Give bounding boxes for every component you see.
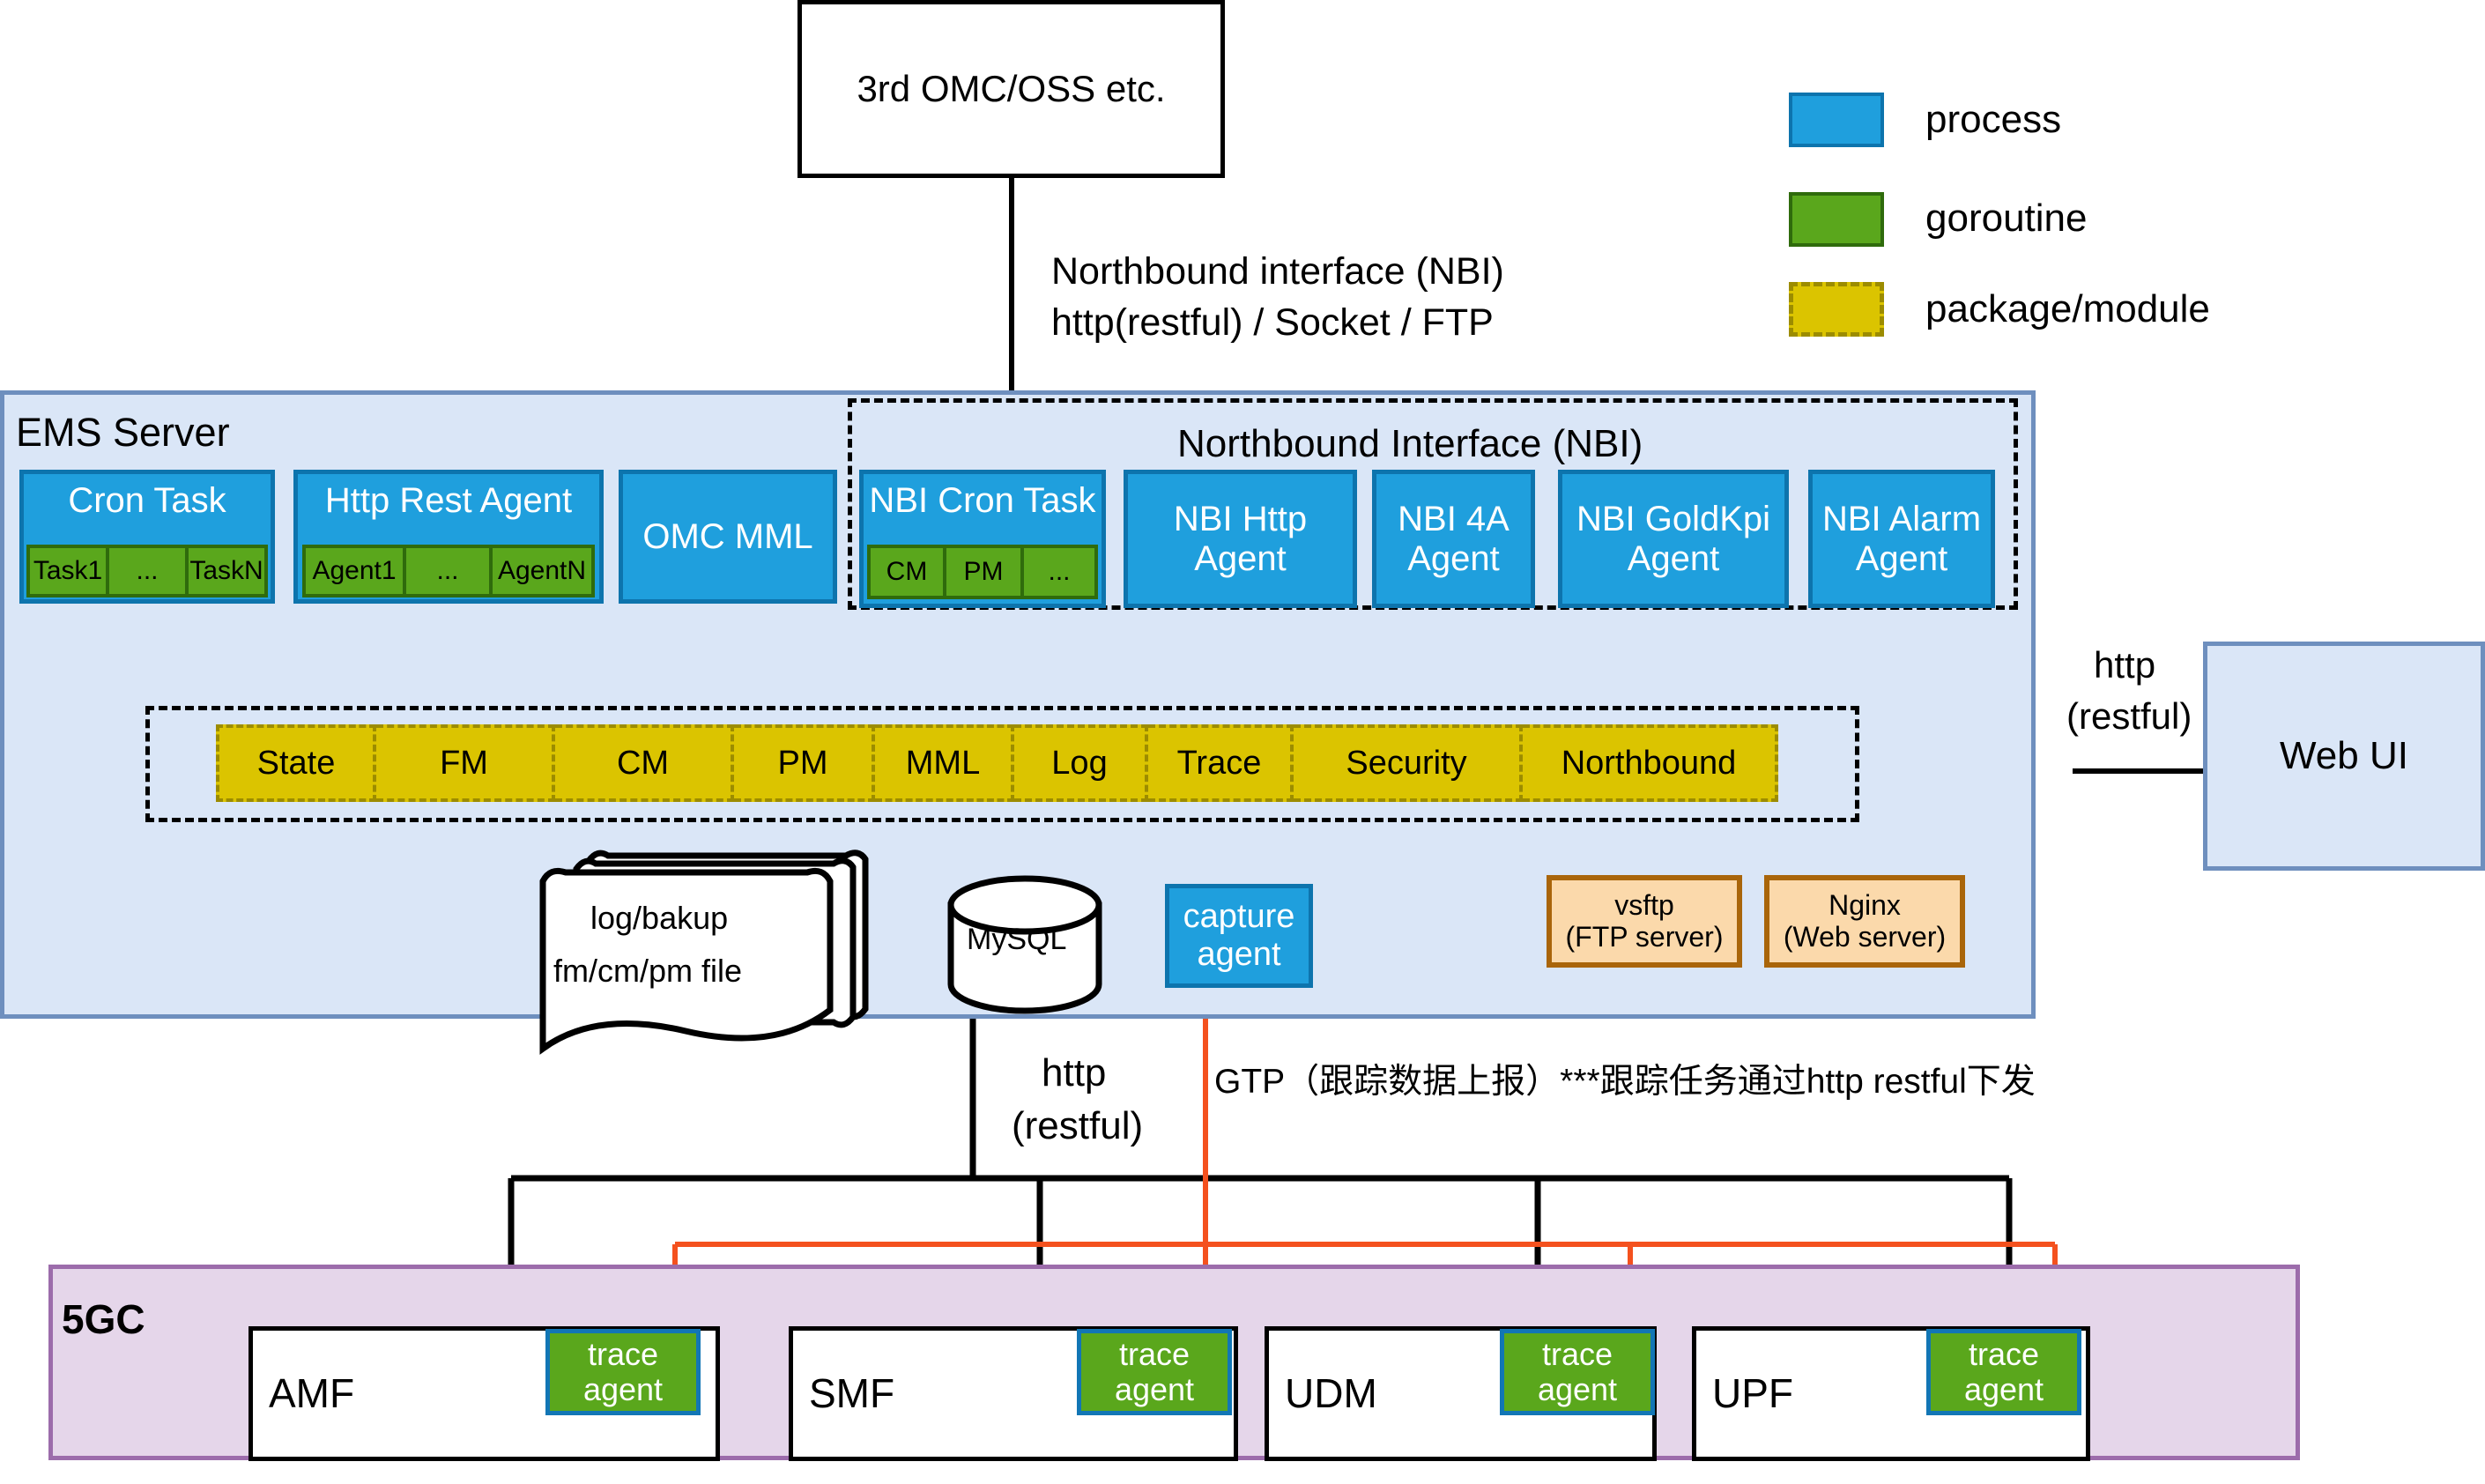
nf-amf-label: AMF: [269, 1371, 354, 1417]
nbi-region-title: Northbound Interface (NBI): [1177, 422, 1643, 466]
module-security-label: Security: [1346, 745, 1466, 783]
goroutine-nbi-ellipsis-label: ...: [1048, 557, 1070, 587]
ems-5gc-link-label-line2: (restful): [1012, 1103, 1143, 1150]
server-nginx-role: (Web server): [1784, 922, 1946, 953]
goroutine-taskn-label: TaskN: [189, 556, 263, 586]
module-trace-label: Trace: [1177, 745, 1262, 783]
process-capture-agent[interactable]: capture agent: [1165, 884, 1313, 988]
trace-agent-smf-label: trace agent: [1115, 1337, 1194, 1408]
module-bar: State FM CM PM MML Log Trace Security No…: [216, 724, 1778, 802]
process-nbi-goldkpi-agent[interactable]: NBI GoldKpi Agent: [1558, 470, 1789, 608]
nf-smf-label: SMF: [809, 1371, 894, 1417]
module-mml-label: MML: [906, 745, 980, 783]
goroutine-agent1[interactable]: Agent1: [302, 545, 404, 597]
module-northbound-label: Northbound: [1561, 745, 1737, 783]
goroutine-agentn-label: AgentN: [498, 556, 586, 586]
goroutine-agent-ellipsis-label: ...: [436, 556, 458, 586]
goroutine-pm-label: PM: [964, 557, 1004, 587]
diagram-canvas: 3rd OMC/OSS etc. process goroutine packa…: [0, 0, 2485, 1484]
goroutine-task-ellipsis-label: ...: [136, 556, 158, 586]
module-cm-label: CM: [617, 745, 669, 783]
goroutine-cm-label: CM: [886, 557, 928, 587]
web-ui-link-label-line1: http: [2094, 643, 2155, 687]
module-pm-label: PM: [778, 745, 828, 783]
file-stack-label-line2: fm/cm/pm file: [553, 952, 742, 990]
module-cm[interactable]: CM: [555, 724, 734, 802]
trace-agent-amf[interactable]: trace agent: [545, 1329, 701, 1415]
goroutine-taskn[interactable]: TaskN: [187, 545, 268, 597]
third-party-omc-oss-box[interactable]: 3rd OMC/OSS etc.: [797, 0, 1225, 178]
mysql-database-label: MySQL: [967, 922, 1066, 958]
trace-agent-amf-label: trace agent: [583, 1337, 663, 1408]
goroutine-task1-label: Task1: [33, 556, 102, 586]
legend-label-process: process: [1925, 97, 2061, 144]
goroutine-pm[interactable]: PM: [945, 545, 1022, 599]
goroutine-agent-ellipsis[interactable]: ...: [404, 545, 491, 597]
module-northbound[interactable]: Northbound: [1523, 724, 1778, 802]
legend-swatch-process: [1789, 93, 1884, 147]
goroutine-group-nbi-cron-task: CM PM ...: [867, 545, 1098, 599]
goroutine-agentn[interactable]: AgentN: [491, 545, 595, 597]
process-nbi-4a-agent[interactable]: NBI 4A Agent: [1372, 470, 1535, 608]
process-nbi-4a-agent-label: NBI 4A Agent: [1398, 500, 1510, 579]
goroutine-task1[interactable]: Task1: [26, 545, 108, 597]
legend-label-goroutine: goroutine: [1925, 196, 2087, 242]
web-ui-link-label-line2: (restful): [2066, 694, 2192, 738]
ems-5gc-link-label-line1: http: [1042, 1050, 1106, 1097]
web-ui-label: Web UI: [2280, 734, 2408, 777]
process-nbi-cron-task-label: NBI Cron Task: [869, 481, 1095, 521]
goroutine-task-ellipsis[interactable]: ...: [108, 545, 187, 597]
module-state-label: State: [257, 745, 336, 783]
goroutine-group-http-rest-agent: Agent1 ... AgentN: [302, 545, 595, 597]
web-ui-panel[interactable]: Web UI: [2203, 642, 2485, 871]
module-trace[interactable]: Trace: [1148, 724, 1294, 802]
process-omc-mml-label: OMC MML: [642, 517, 812, 557]
goroutine-nbi-ellipsis[interactable]: ...: [1022, 545, 1098, 599]
ems-server-title: EMS Server: [16, 410, 230, 456]
goroutine-agent1-label: Agent1: [312, 556, 396, 586]
process-nbi-http-agent-label: NBI Http Agent: [1174, 500, 1307, 579]
module-log-label: Log: [1051, 745, 1107, 783]
nbi-top-label-line1: Northbound interface (NBI): [1051, 249, 1504, 295]
trace-agent-smf[interactable]: trace agent: [1077, 1329, 1232, 1415]
goroutine-group-cron-task: Task1 ... TaskN: [26, 545, 268, 597]
process-http-rest-agent-label: Http Rest Agent: [325, 481, 572, 521]
gtp-trace-note: GTP（跟踪数据上报）***跟踪任务通过http restful下发: [1214, 1062, 2036, 1103]
goroutine-cm[interactable]: CM: [867, 545, 945, 599]
process-nbi-http-agent[interactable]: NBI Http Agent: [1124, 470, 1357, 608]
nf-upf-label: UPF: [1712, 1371, 1793, 1417]
trace-agent-upf-label: trace agent: [1964, 1337, 2044, 1408]
trace-agent-udm[interactable]: trace agent: [1500, 1329, 1655, 1415]
process-omc-mml[interactable]: OMC MML: [619, 470, 837, 604]
legend-swatch-goroutine: [1789, 192, 1884, 247]
module-pm[interactable]: PM: [734, 724, 875, 802]
legend-swatch-package-module: [1789, 282, 1884, 337]
server-nginx[interactable]: Nginx (Web server): [1764, 875, 1965, 968]
server-nginx-name: Nginx: [1829, 890, 1901, 922]
third-party-omc-oss-label: 3rd OMC/OSS etc.: [857, 68, 1165, 109]
process-cron-task-label: Cron Task: [68, 481, 226, 521]
trace-agent-udm-label: trace agent: [1538, 1337, 1617, 1408]
module-mml[interactable]: MML: [875, 724, 1014, 802]
module-fm-label: FM: [440, 745, 488, 783]
process-nbi-goldkpi-agent-label: NBI GoldKpi Agent: [1576, 500, 1770, 579]
module-fm[interactable]: FM: [376, 724, 555, 802]
process-capture-agent-label: capture agent: [1183, 898, 1295, 973]
file-stack-label-line1: log/bakup: [590, 899, 728, 937]
nbi-top-label-line2: http(restful) / Socket / FTP: [1051, 301, 1494, 346]
process-nbi-alarm-agent[interactable]: NBI Alarm Agent: [1808, 470, 1995, 608]
core-network-title: 5GC: [62, 1295, 145, 1343]
module-security[interactable]: Security: [1294, 724, 1523, 802]
trace-agent-upf[interactable]: trace agent: [1926, 1329, 2081, 1415]
server-vsftp-role: (FTP server): [1566, 922, 1724, 953]
server-vsftp-name: vsftp: [1614, 890, 1674, 922]
legend-label-package-module: package/module: [1925, 286, 2210, 333]
module-log[interactable]: Log: [1014, 724, 1148, 802]
process-nbi-alarm-agent-label: NBI Alarm Agent: [1822, 500, 1981, 579]
module-state[interactable]: State: [216, 724, 376, 802]
nf-udm-label: UDM: [1285, 1371, 1377, 1417]
server-vsftp[interactable]: vsftp (FTP server): [1547, 875, 1742, 968]
